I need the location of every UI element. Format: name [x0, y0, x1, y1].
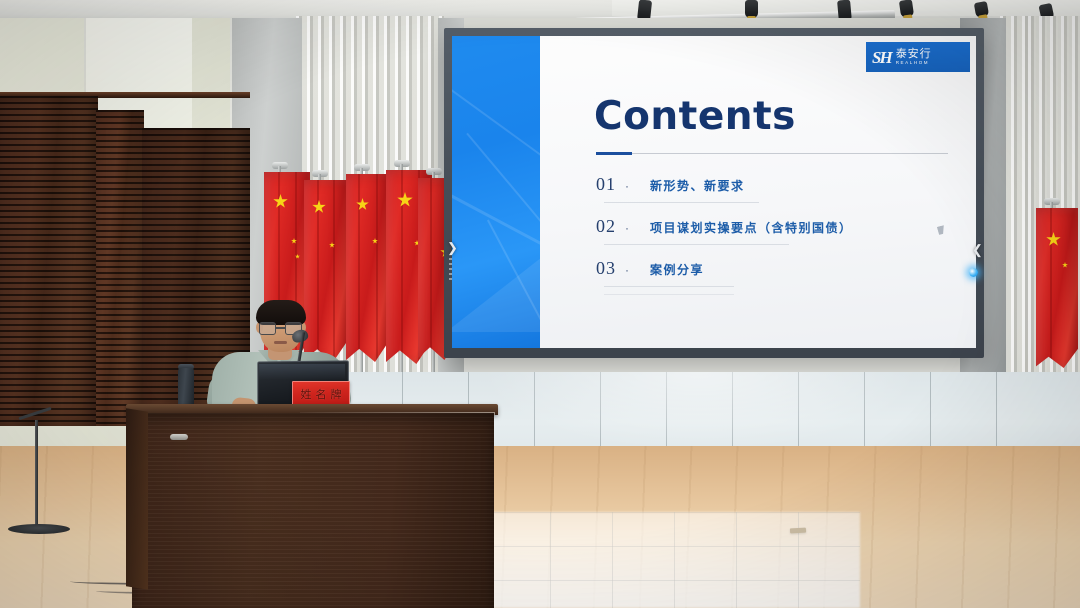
title-underline-rest — [632, 153, 948, 154]
toc-item: 02 · 项目谋划实操要点（含特别国债） — [596, 216, 976, 258]
screen-surface: REALHOM SH 泰安行 REALHOM Contents — [452, 36, 976, 348]
toc-item-rule — [604, 286, 734, 287]
toc-item: 01 · 新形势、新要求 — [596, 174, 976, 216]
toc-separator: · — [625, 179, 629, 193]
mic-stand-base — [8, 524, 70, 534]
company-logo: SH 泰安行 REALHOM — [866, 42, 970, 72]
podium-badge — [170, 434, 188, 440]
spotlight-icon — [745, 0, 758, 18]
wood-slat-panel — [96, 110, 144, 426]
flag-cloth — [1036, 208, 1078, 368]
logo-english-name: REALHOM — [896, 61, 932, 66]
table-of-contents: 01 · 新形势、新要求 02 · 项目谋划实操要点（含特别国债） — [596, 174, 976, 300]
nameplate-char: 名 — [316, 389, 327, 400]
toc-number: 03 — [596, 258, 616, 279]
watermark-line — [452, 184, 540, 266]
led-display-screen[interactable]: REALHOM SH 泰安行 REALHOM Contents — [444, 28, 984, 358]
chevron-right-icon[interactable]: ❯ — [447, 241, 458, 254]
glasses-lens — [259, 322, 276, 335]
floor-debris — [790, 528, 806, 534]
slide-title: Contents — [594, 94, 796, 139]
nameplate-char: 牌 — [331, 389, 342, 400]
auditorium-photo: REALHOM SH 泰安行 REALHOM Contents — [0, 0, 1080, 608]
bezel-vent — [449, 258, 452, 280]
title-underline-accent — [596, 152, 632, 155]
laptop-screen-glow — [259, 364, 345, 380]
chevron-left-icon[interactable]: ❮ — [972, 243, 983, 256]
logo-chinese-name: 泰安行 — [896, 48, 932, 59]
podium-side-panel — [126, 408, 148, 589]
slide-blue-sidebar: REALHOM — [452, 36, 540, 348]
toc-trailing-rule — [604, 294, 734, 295]
toc-item-rule — [604, 244, 789, 245]
title-underline — [596, 152, 948, 155]
logo-mark-icon: SH — [872, 49, 891, 66]
toc-item-rule — [604, 202, 759, 203]
watermark-line — [452, 84, 540, 174]
toc-label: 新形势、新要求 — [650, 177, 745, 194]
watermark-triangle — [452, 236, 540, 332]
podium-front-panel — [132, 413, 494, 608]
wood-slat-panel — [0, 96, 98, 426]
mic-stand-pole — [35, 420, 38, 530]
glasses-bridge — [276, 327, 285, 329]
nameplate-char: 姓 — [301, 389, 312, 400]
toc-number: 01 — [596, 174, 616, 195]
presenter-mouth — [274, 341, 287, 344]
toc-number: 02 — [596, 216, 616, 237]
slide-content-area: SH 泰安行 REALHOM Contents — [540, 36, 976, 348]
toc-label: 案例分享 — [650, 261, 704, 278]
logo-text-group: 泰安行 REALHOM — [896, 48, 932, 66]
toc-label: 项目谋划实操要点（含特别国债） — [650, 219, 853, 236]
presentation-slide: REALHOM SH 泰安行 REALHOM Contents — [452, 36, 976, 348]
power-indicator-led — [969, 268, 978, 277]
toc-separator: · — [625, 263, 629, 277]
toc-separator: · — [625, 221, 629, 235]
spotlight-icon — [899, 0, 914, 18]
spotlight-icon — [974, 1, 989, 18]
